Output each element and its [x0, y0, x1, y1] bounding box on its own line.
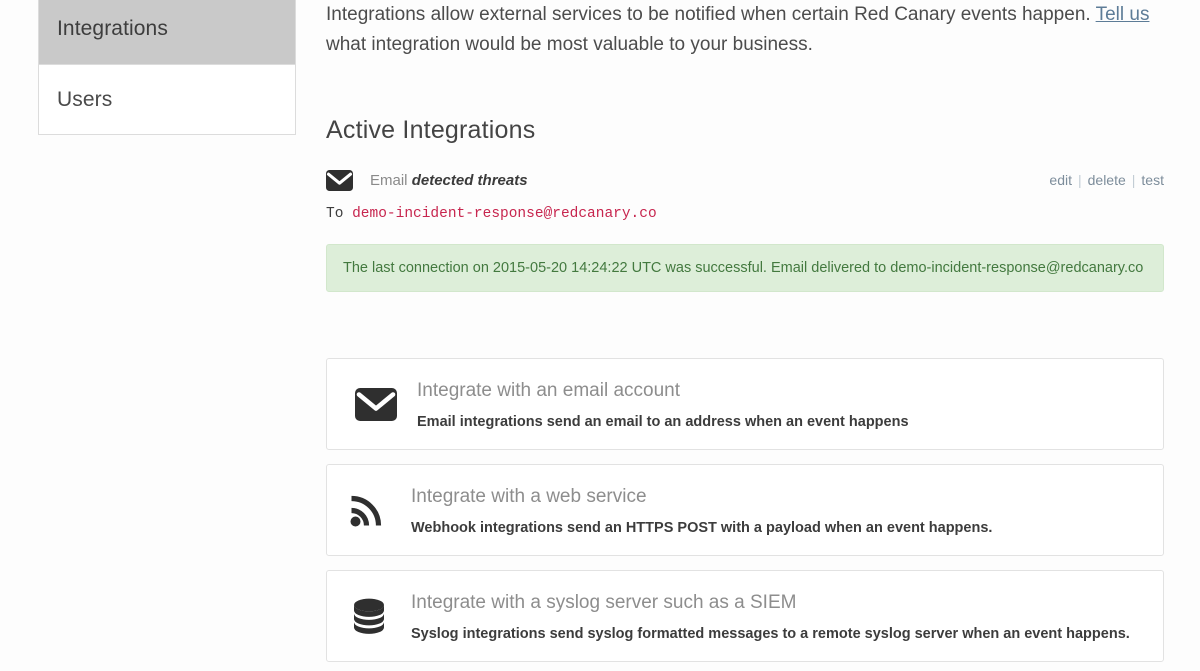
delete-link[interactable]: delete	[1088, 172, 1126, 188]
option-description: Webhook integrations send an HTTPS POST …	[411, 518, 992, 538]
connection-status-banner: The last connection on 2015-05-20 14:24:…	[326, 244, 1164, 292]
option-text: Integrate with an email account Email in…	[417, 376, 909, 432]
option-title: Integrate with a web service	[411, 484, 992, 510]
settings-sidebar: Integrations Users	[38, 0, 296, 135]
tell-us-link[interactable]: Tell us	[1096, 4, 1150, 25]
option-title: Integrate with an email account	[417, 378, 909, 404]
integration-option-email[interactable]: Integrate with an email account Email in…	[326, 358, 1164, 450]
envelope-icon	[347, 388, 417, 421]
option-description: Email integrations send an email to an a…	[417, 412, 909, 432]
active-integration-actions: edit | delete | test	[1049, 172, 1164, 188]
integration-destination: To demo-incident-response@redcanary.co	[326, 206, 1164, 222]
sidebar-item-label: Integrations	[57, 17, 168, 41]
option-text: Integrate with a web service Webhook int…	[411, 482, 992, 538]
integration-option-syslog[interactable]: Integrate with a syslog server such as a…	[326, 570, 1164, 662]
integration-option-webhook[interactable]: Integrate with a web service Webhook int…	[326, 464, 1164, 556]
sidebar-item-label: Users	[57, 88, 112, 112]
rss-webhook-icon	[347, 492, 411, 528]
intro-text-after: what integration would be most valuable …	[326, 34, 813, 55]
edit-link[interactable]: edit	[1049, 172, 1072, 188]
database-icon	[347, 596, 411, 636]
to-label: To	[326, 206, 343, 222]
integration-type: Email	[370, 172, 408, 189]
option-description: Syslog integrations send syslog formatte…	[411, 624, 1130, 644]
active-integrations-heading: Active Integrations	[326, 60, 1164, 145]
intro-text-before: Integrations allow external services to …	[326, 4, 1096, 25]
to-address: demo-incident-response@redcanary.co	[352, 206, 657, 222]
active-integration-label: Email detected threats	[370, 172, 528, 189]
sidebar-item-integrations[interactable]: Integrations	[39, 0, 295, 64]
test-link[interactable]: test	[1141, 172, 1164, 188]
active-integration-row: Email detected threats edit | delete | t…	[326, 167, 1164, 193]
main-content: Integrations allow external services to …	[326, 0, 1164, 662]
link-separator: |	[1078, 172, 1082, 188]
link-separator: |	[1132, 172, 1136, 188]
envelope-icon	[326, 170, 356, 191]
sidebar-item-users[interactable]: Users	[39, 64, 295, 134]
integration-options-list: Integrate with an email account Email in…	[326, 358, 1164, 662]
intro-paragraph: Integrations allow external services to …	[326, 0, 1156, 60]
integration-event: detected threats	[412, 172, 528, 189]
option-title: Integrate with a syslog server such as a…	[411, 590, 1130, 616]
option-text: Integrate with a syslog server such as a…	[411, 588, 1130, 644]
